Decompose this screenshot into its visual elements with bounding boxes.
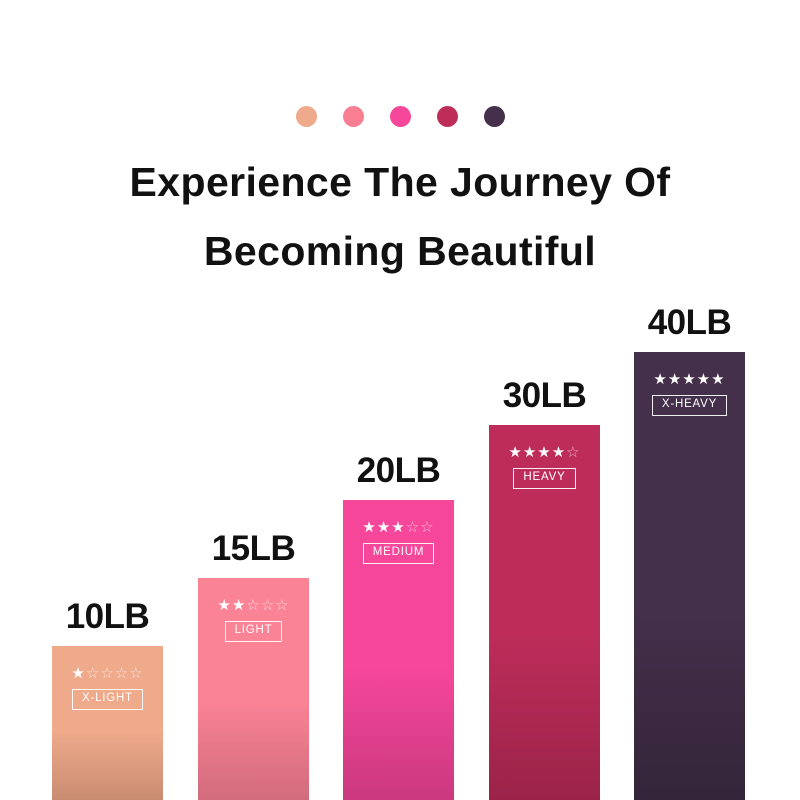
stars-filled: ★★★ — [362, 519, 405, 536]
stars-empty: ☆☆ — [406, 519, 435, 536]
bar-column[interactable]: ★☆☆☆☆X-LIGHT — [52, 646, 163, 800]
level-badge: MEDIUM — [363, 543, 434, 564]
bar-column[interactable]: ★★★★★X-HEAVY — [634, 352, 745, 800]
star-rating-icon: ★★★★☆ — [508, 445, 580, 460]
bar-weight-label: 30LB — [503, 378, 587, 413]
bar-group-medium[interactable]: 20LB★★★☆☆MEDIUM — [343, 453, 454, 800]
star-rating-icon: ★☆☆☆☆ — [71, 666, 143, 681]
star-rating-icon: ★★☆☆☆ — [217, 598, 289, 613]
bar-weight-label: 40LB — [648, 305, 732, 340]
stars-filled: ★★★★ — [508, 444, 566, 461]
stars-empty: ☆☆☆ — [246, 597, 289, 614]
level-badge: X-LIGHT — [72, 689, 143, 710]
star-rating-icon: ★★★☆☆ — [362, 520, 434, 535]
bar-weight-label: 20LB — [357, 453, 441, 488]
bar-weight-label: 10LB — [66, 599, 150, 634]
level-badge: HEAVY — [513, 468, 575, 489]
bar-group-x-heavy[interactable]: 40LB★★★★★X-HEAVY — [634, 305, 745, 800]
bar-group-heavy[interactable]: 30LB★★★★☆HEAVY — [489, 378, 600, 800]
bar-group-x-light[interactable]: 10LB★☆☆☆☆X-LIGHT — [52, 599, 163, 800]
bar-group-light[interactable]: 15LB★★☆☆☆LIGHT — [198, 531, 309, 800]
bar-column[interactable]: ★★☆☆☆LIGHT — [198, 578, 309, 800]
stars-filled: ★★★★★ — [653, 371, 725, 388]
stars-empty: ☆ — [566, 444, 580, 461]
level-badge: LIGHT — [225, 621, 283, 642]
level-badge: X-HEAVY — [652, 395, 727, 416]
stars-filled: ★ — [71, 665, 85, 682]
bar-column[interactable]: ★★★★☆HEAVY — [489, 425, 600, 800]
star-rating-icon: ★★★★★ — [653, 372, 725, 387]
stars-filled: ★★ — [217, 597, 246, 614]
bar-column[interactable]: ★★★☆☆MEDIUM — [343, 500, 454, 800]
product-infographic: Experience The Journey Of Becoming Beaut… — [0, 0, 800, 800]
stars-empty: ☆☆☆☆ — [86, 665, 144, 682]
bar-weight-label: 15LB — [212, 531, 296, 566]
resistance-band-bar-chart: 10LB★☆☆☆☆X-LIGHT15LB★★☆☆☆LIGHT20LB★★★☆☆M… — [0, 0, 800, 800]
